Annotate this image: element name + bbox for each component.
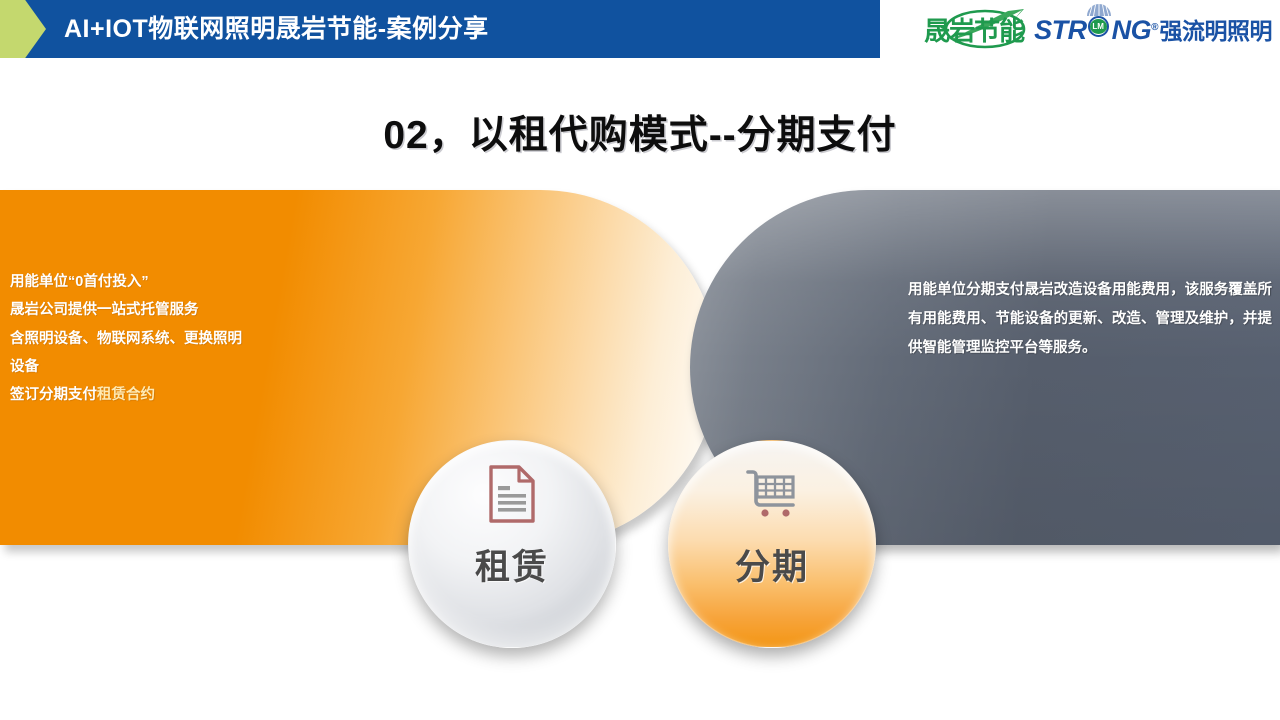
logo-fan-icon (1086, 3, 1112, 17)
left-text-line: 设备 (10, 353, 320, 381)
left-text-line: 含照明设备、物联网系统、更换照明 (10, 325, 320, 353)
left-text-line: 晟岩公司提供一站式托管服务 (10, 296, 320, 324)
logo-o-mark: LM (1087, 12, 1112, 39)
left-text-line: 用能单位“0首付投入” (10, 268, 320, 296)
header-title: AI+IOT物联网照明晟岩节能-案例分享 (64, 0, 489, 58)
registered-mark: ® (1151, 22, 1158, 33)
logo-shengyan-text: 晟岩节能 (924, 11, 1024, 48)
header-bar: AI+IOT物联网照明晟岩节能-案例分享 晟岩节能 STR (0, 0, 1280, 58)
content-stage: 用能单位“0首付投入” 晟岩公司提供一站式托管服务 含照明设备、物联网系统、更换… (0, 188, 1280, 558)
circle-rent-label: 租赁 (475, 539, 549, 590)
circle-installment-label: 分期 (735, 539, 809, 590)
logo-strong-text-2: NG (1112, 15, 1152, 46)
left-text-line-contract: 签订分期支付租赁合约 (10, 381, 320, 409)
document-icon (487, 463, 537, 525)
slide-canvas: AI+IOT物联网照明晟岩节能-案例分享 晟岩节能 STR (0, 0, 1280, 720)
left-panel-text: 用能单位“0首付投入” 晟岩公司提供一站式托管服务 含照明设备、物联网系统、更换… (10, 268, 320, 409)
chevron-right-icon (0, 0, 46, 58)
logo-qiangliuming-text: 强流明照明 (1160, 12, 1273, 46)
right-panel-text: 用能单位分期支付晟岩改造设备用能费用，该服务覆盖所有用能费用、节能设备的更新、改… (908, 276, 1272, 363)
logo-lm-badge: LM (1090, 19, 1107, 34)
page-title: 02，以租代购模式--分期支付 (0, 104, 1280, 160)
company-logo: 晟岩节能 STR LM NG ® 强流明照明 (880, 0, 1280, 58)
circle-rent[interactable]: 租赁 (408, 440, 616, 648)
circle-installment[interactable]: 分期 (668, 440, 876, 648)
left-text-plain: 签订分期支付 (10, 387, 97, 403)
shopping-cart-icon (743, 463, 801, 525)
logo-shengyan: 晟岩节能 (924, 0, 1024, 58)
logo-strong: STR LM NG ® 强流明照明 (1034, 12, 1272, 46)
logo-strong-text-1: STR (1034, 15, 1087, 46)
left-text-highlight: 租赁合约 (97, 387, 155, 403)
